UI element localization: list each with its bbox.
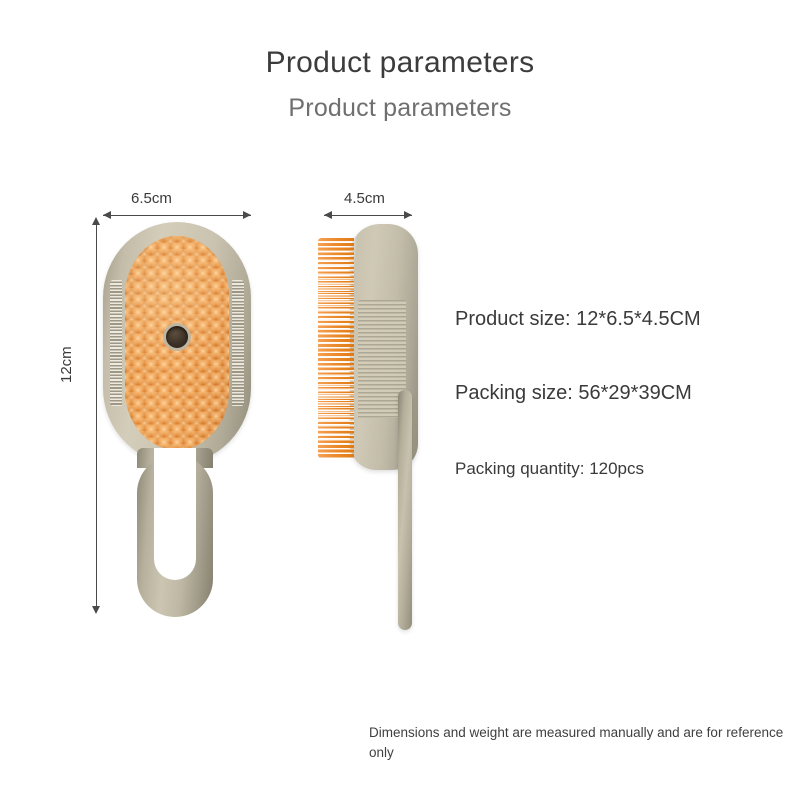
arrow-down-icon [92, 606, 100, 614]
spec-product-size: Product size: 12*6.5*4.5CM [455, 308, 701, 331]
product-front-view [103, 222, 251, 464]
dimension-label-side-width: 4.5cm [344, 190, 385, 207]
arrow-right-icon [243, 211, 251, 219]
comb-teeth-right [232, 280, 244, 406]
comb-teeth-left [110, 280, 122, 406]
dimension-line-side-width [324, 215, 412, 216]
dimension-label-height: 12cm [58, 346, 75, 383]
steam-nozzle-hole [166, 326, 188, 348]
loop-handle-opening [154, 448, 196, 580]
spec-packing-quantity: Packing quantity: 120pcs [455, 459, 644, 479]
dimension-line-front-width [103, 215, 251, 216]
product-parameters-page: Product parameters Product parameters 6.… [0, 0, 800, 800]
arrow-right-icon [404, 211, 412, 219]
arrow-left-icon [103, 211, 111, 219]
page-title: Product parameters [0, 46, 800, 80]
dimension-label-front-width: 6.5cm [131, 190, 172, 207]
loop-handle-side [398, 390, 412, 630]
spec-packing-size: Packing size: 56*29*39CM [455, 382, 692, 405]
arrow-up-icon [92, 217, 100, 225]
dimension-line-height [96, 219, 97, 612]
arrow-left-icon [324, 211, 332, 219]
bristles-side [318, 238, 354, 458]
product-side-view [318, 224, 418, 470]
footer-disclaimer: Dimensions and weight are measured manua… [369, 723, 794, 762]
page-subtitle: Product parameters [0, 94, 800, 123]
